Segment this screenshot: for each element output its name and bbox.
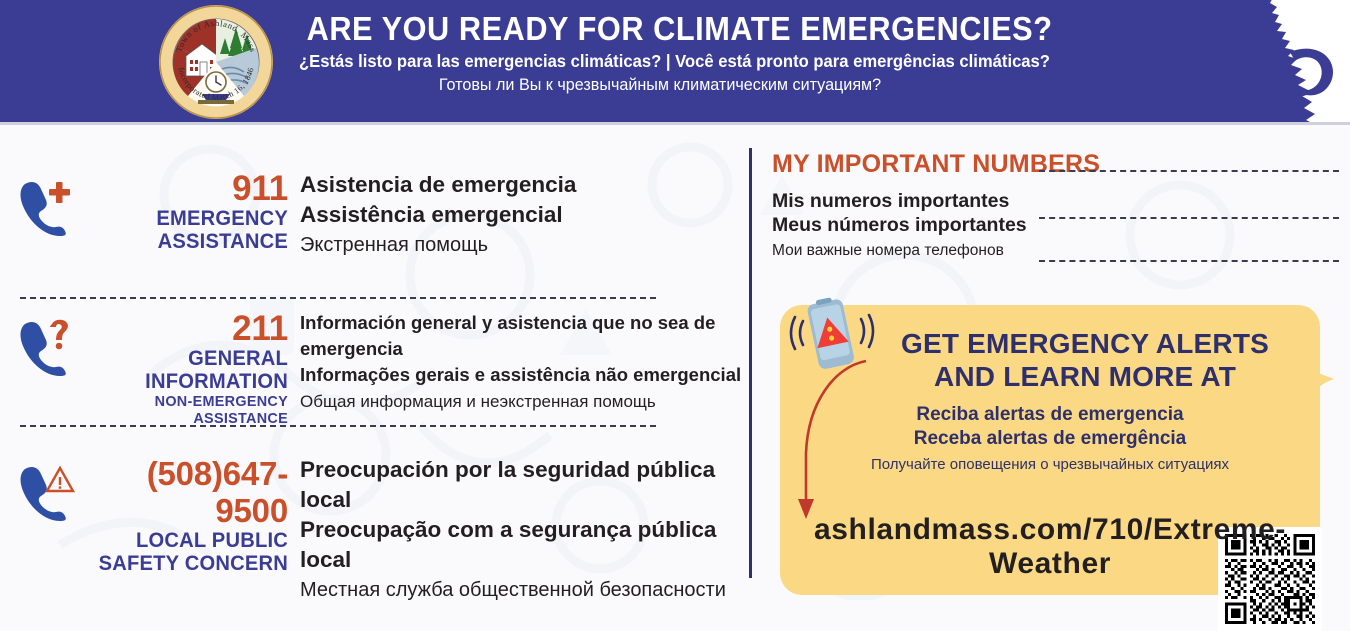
translation-ru-911: Экстренная помощь xyxy=(300,230,745,261)
emergency-contacts-column: 911 EMERGENCY ASSISTANCE Asistencia de e… xyxy=(0,125,750,600)
contact-row-211: 211 GENERAL INFORMATION NON-EMERGENCY AS… xyxy=(0,310,750,410)
contact-number-911[interactable]: 911 xyxy=(78,170,288,207)
header-subtitle-russian: Готовы ли Вы к чрезвычайным климатически… xyxy=(299,73,1021,96)
my-numbers-ru: Мои важные номера телефонов xyxy=(772,241,1004,261)
translation-pt-211: Informações gerais e assistência não eme… xyxy=(300,362,745,388)
phone-warning-icon xyxy=(18,463,80,521)
translation-es-211: Información general y asistencia que no … xyxy=(300,310,745,362)
translation-es-911: Asistencia de emergencia xyxy=(300,170,745,200)
phone-question-icon xyxy=(18,318,80,376)
write-in-line-1[interactable] xyxy=(1039,170,1339,172)
header-text-block: ARE YOU READY FOR CLIMATE EMERGENCIES? ¿… xyxy=(280,8,1040,96)
contact-labels-211: 211 GENERAL INFORMATION NON-EMERGENCY AS… xyxy=(78,310,288,427)
translations-211: Información general y asistencia que no … xyxy=(300,310,745,416)
write-in-line-3[interactable] xyxy=(1039,260,1339,262)
contact-row-local: (508)647-9500 LOCAL PUBLIC SAFETY CONCER… xyxy=(0,455,750,560)
callout-pt: Receba alertas de emergência xyxy=(840,427,1260,451)
callout-ru: Получайте оповещения о чрезвычайных ситу… xyxy=(815,455,1285,475)
contact-number-block-911: 911 EMERGENCY ASSISTANCE xyxy=(18,170,288,253)
contact-label-local: LOCAL PUBLIC SAFETY CONCERN xyxy=(86,529,288,575)
callout-heading-line-2: AND LEARN MORE AT xyxy=(870,360,1300,393)
translation-es-local: Preocupación por la seguridad pública lo… xyxy=(300,455,745,515)
contact-number-block-211: 211 GENERAL INFORMATION NON-EMERGENCY AS… xyxy=(18,310,288,427)
contact-row-911: 911 EMERGENCY ASSISTANCE Asistencia de e… xyxy=(0,170,750,270)
emergency-alerts-callout: GET EMERGENCY ALERTS AND LEARN MORE AT R… xyxy=(780,305,1320,595)
contact-label-211: GENERAL INFORMATION xyxy=(86,347,288,393)
translation-ru-211: Общая информация и неэкстренная помощь xyxy=(300,388,745,416)
callout-es: Reciba alertas de emergencia xyxy=(840,403,1260,427)
page-title: ARE YOU READY FOR CLIMATE EMERGENCIES? xyxy=(307,8,1014,50)
page-header: Town of Ashland, Mass Incorporated March… xyxy=(0,0,1350,122)
plus-icon xyxy=(49,182,70,203)
contact-label-911: EMERGENCY ASSISTANCE xyxy=(86,207,288,253)
contact-number-block-local: (508)647-9500 LOCAL PUBLIC SAFETY CONCER… xyxy=(18,455,288,575)
my-numbers-heading: MY IMPORTANT NUMBERS xyxy=(772,150,1100,178)
contact-sublabel-211: NON-EMERGENCY ASSISTANCE xyxy=(86,393,288,427)
contact-labels-911: 911 EMERGENCY ASSISTANCE xyxy=(78,170,288,253)
translations-local: Preocupación por la seguridad pública lo… xyxy=(300,455,745,606)
my-numbers-pt: Meus números importantes xyxy=(772,213,1027,237)
town-seal-icon: Town of Ashland, Mass Incorporated March… xyxy=(158,4,274,120)
massachusetts-cape-cod-map-icon xyxy=(1178,0,1350,122)
row-divider-1 xyxy=(20,297,656,299)
header-subtitle-latin: ¿Estás listo para las emergencias climát… xyxy=(299,50,1021,73)
my-numbers-column: MY IMPORTANT NUMBERS Mis numeros importa… xyxy=(752,125,1350,600)
translation-pt-local: Preocupação com a segurança pública loca… xyxy=(300,515,745,575)
contact-number-211[interactable]: 211 xyxy=(78,310,288,347)
write-in-line-2[interactable] xyxy=(1039,217,1339,219)
translations-911: Asistencia de emergencia Assistência eme… xyxy=(300,170,745,261)
my-numbers-es: Mis numeros importantes xyxy=(772,189,1009,213)
callout-heading: GET EMERGENCY ALERTS AND LEARN MORE AT xyxy=(870,327,1300,393)
contact-number-local[interactable]: (508)647-9500 xyxy=(78,455,288,529)
phone-plus-icon xyxy=(18,178,80,236)
translation-pt-911: Assistência emergencial xyxy=(300,200,745,230)
row-divider-2 xyxy=(20,425,656,427)
warning-triangle-icon xyxy=(47,468,73,491)
contact-labels-local: (508)647-9500 LOCAL PUBLIC SAFETY CONCER… xyxy=(78,455,288,575)
translation-ru-local: Местная служба общественной безопасности xyxy=(300,575,745,606)
callout-url[interactable]: ashlandmass.com/710/Extreme-Weather xyxy=(780,513,1320,581)
question-mark-icon xyxy=(50,320,68,350)
callout-heading-line-1: GET EMERGENCY ALERTS xyxy=(870,327,1300,360)
